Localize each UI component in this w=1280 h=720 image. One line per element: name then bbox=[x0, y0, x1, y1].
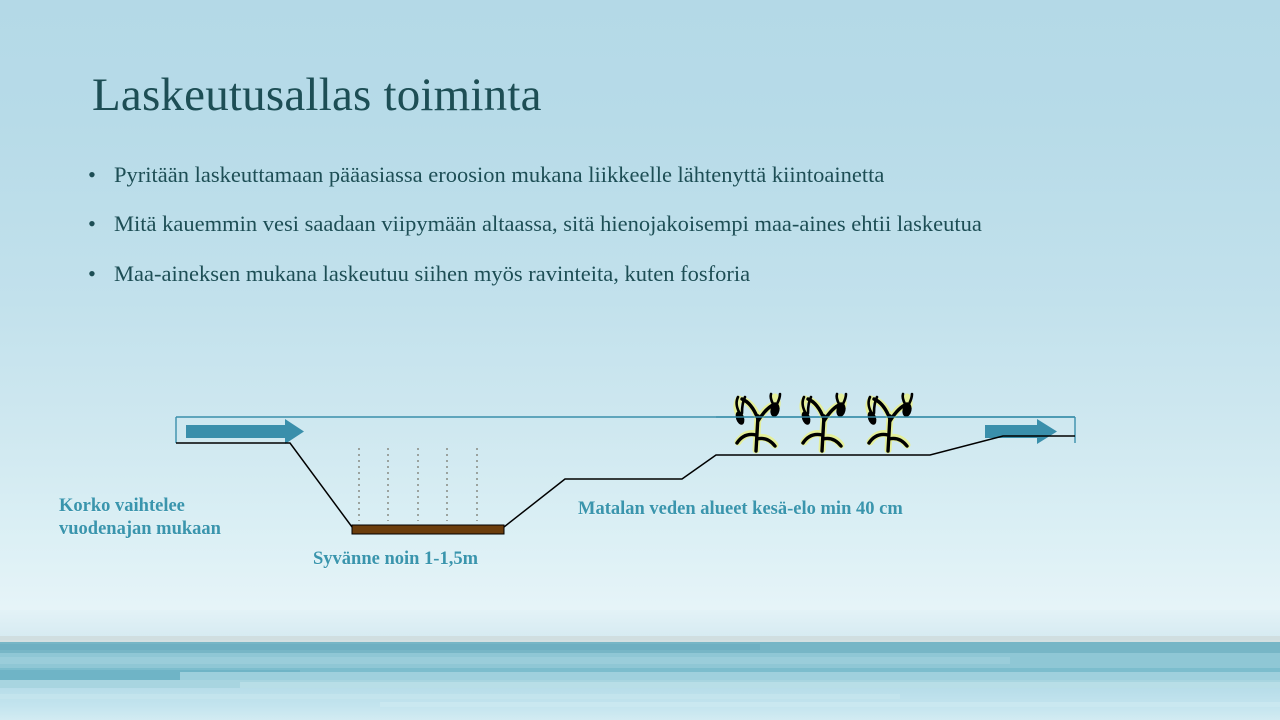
label-inlet-level: Korko vaihteleevuodenajan mukaan bbox=[59, 495, 221, 541]
basin-cross-section-diagram bbox=[0, 0, 1280, 720]
plant-cluster bbox=[800, 394, 847, 451]
plant-cluster-group bbox=[734, 394, 913, 451]
slide-canvas: Laskeutusallas toiminta • Pyritään laske… bbox=[0, 0, 1280, 720]
plant-cluster bbox=[734, 394, 781, 451]
inlet-flow-arrow bbox=[186, 419, 304, 444]
inlet-channel bbox=[176, 417, 1075, 443]
label-deep-zone: Syvänne noin 1-1,5m bbox=[313, 548, 478, 571]
sediment-bed bbox=[352, 525, 504, 534]
depth-tick-lines bbox=[359, 448, 477, 521]
outlet-flow-arrow bbox=[985, 419, 1057, 444]
plant-cluster bbox=[866, 394, 913, 451]
label-shallow-zone: Matalan veden alueet kesä-elo min 40 cm bbox=[578, 498, 903, 521]
